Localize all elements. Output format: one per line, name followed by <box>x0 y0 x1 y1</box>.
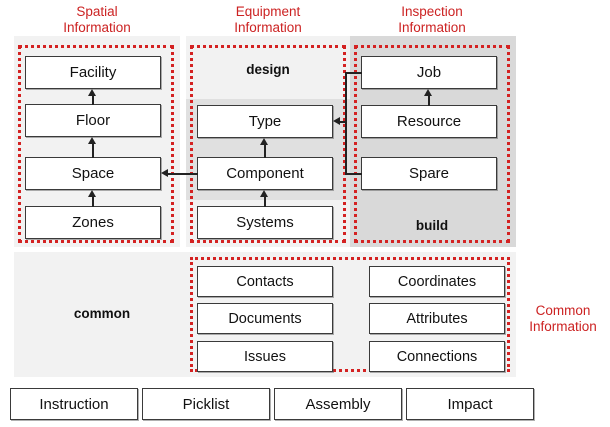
node-assembly[interactable]: Assembly <box>274 388 402 420</box>
node-zones[interactable]: Zones <box>25 206 161 239</box>
node-picklist[interactable]: Picklist <box>142 388 270 420</box>
connector-trunk-to-type <box>340 121 346 123</box>
node-facility[interactable]: Facility <box>25 56 161 89</box>
node-floor[interactable]: Floor <box>25 104 161 137</box>
arrowhead-resource-to-job <box>424 89 432 96</box>
connector-job-stub <box>345 72 362 74</box>
arrowhead-component-to-type <box>260 138 268 145</box>
node-resource[interactable]: Resource <box>361 105 497 138</box>
arrowhead-component-to-space <box>161 169 168 177</box>
arrowhead-inspection-to-type <box>333 117 340 125</box>
connector-inspection-trunk <box>345 72 347 174</box>
arrowhead-floor-to-facility <box>88 89 96 96</box>
node-type[interactable]: Type <box>197 105 333 138</box>
diagram-canvas: Spatial Information Equipment Informatio… <box>0 0 610 427</box>
caption-common: common <box>22 300 182 326</box>
connector-component-to-space <box>168 173 198 175</box>
caption-build: build <box>354 212 510 238</box>
connector-spare-stub <box>345 173 362 175</box>
node-contacts[interactable]: Contacts <box>197 266 333 297</box>
connector-systems-to-component <box>264 197 266 207</box>
node-spare[interactable]: Spare <box>361 157 497 190</box>
heading-common-information: Common Information <box>518 303 608 334</box>
node-space[interactable]: Space <box>25 157 161 190</box>
node-documents[interactable]: Documents <box>197 303 333 334</box>
arrowhead-space-to-floor <box>88 137 96 144</box>
arrowhead-zones-to-space <box>88 190 96 197</box>
connector-floor-to-facility <box>92 96 94 105</box>
node-instruction[interactable]: Instruction <box>10 388 138 420</box>
node-connections[interactable]: Connections <box>369 341 505 372</box>
heading-equipment-information: Equipment Information <box>205 4 331 35</box>
connector-zones-to-space <box>92 197 94 207</box>
heading-spatial-information: Spatial Information <box>34 4 160 35</box>
connector-resource-to-job <box>428 96 430 106</box>
node-job[interactable]: Job <box>361 56 497 89</box>
connector-space-to-floor <box>92 144 94 158</box>
arrowhead-systems-to-component <box>260 190 268 197</box>
node-systems[interactable]: Systems <box>197 206 333 239</box>
caption-design: design <box>190 56 346 82</box>
node-component[interactable]: Component <box>197 157 333 190</box>
node-coordinates[interactable]: Coordinates <box>369 266 505 297</box>
connector-component-to-type <box>264 145 266 158</box>
heading-inspection-information: Inspection Information <box>369 4 495 35</box>
node-impact[interactable]: Impact <box>406 388 534 420</box>
node-issues[interactable]: Issues <box>197 341 333 372</box>
node-attributes[interactable]: Attributes <box>369 303 505 334</box>
